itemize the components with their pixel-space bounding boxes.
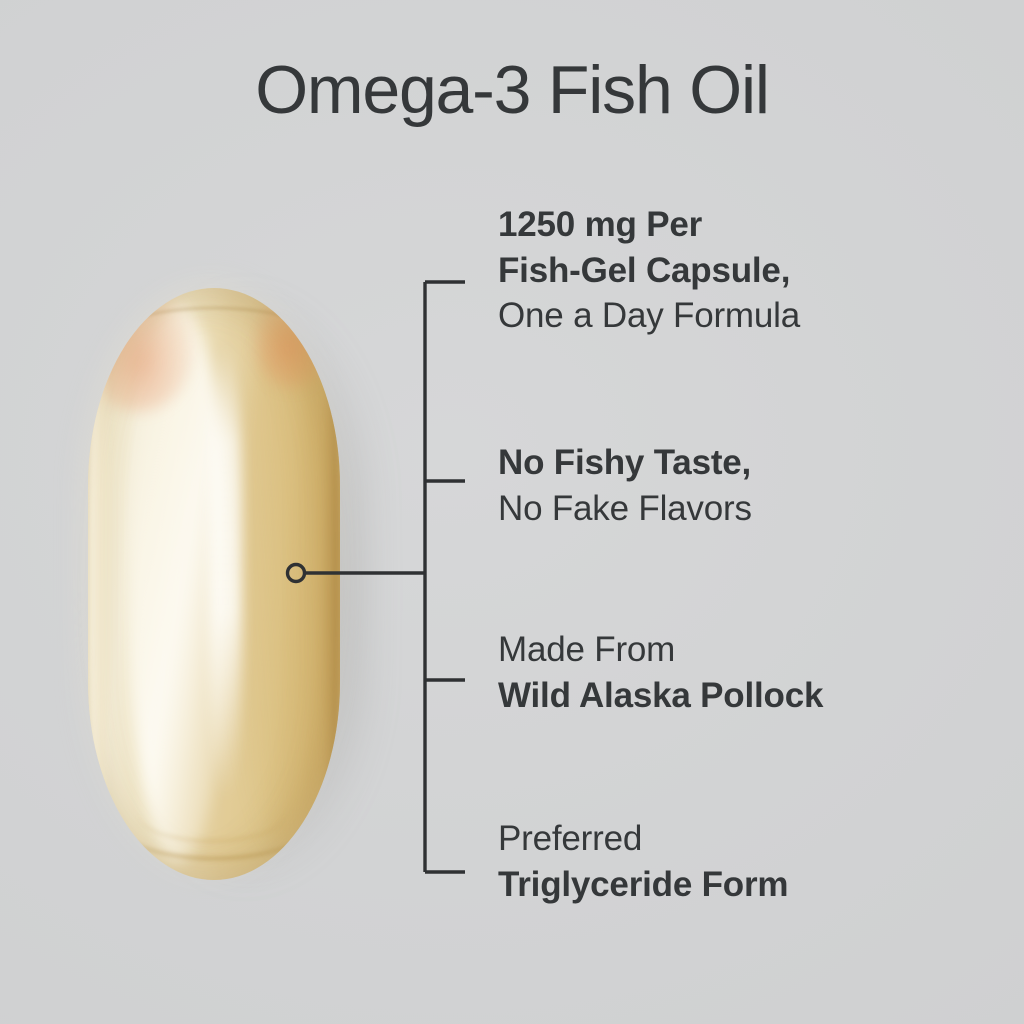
- callout-form: Preferred Triglyceride Form: [498, 816, 788, 907]
- callout-line: Wild Alaska Pollock: [498, 673, 823, 719]
- capsule-top-seam: [108, 307, 320, 374]
- capsule-bottom-meniscus-secondary: [138, 786, 284, 841]
- page-title: Omega-3 Fish Oil: [0, 56, 1024, 124]
- capsule-left-rim-light: [89, 312, 112, 857]
- capsule-specular-streak: [209, 341, 242, 803]
- callout-line: No Fake Flavors: [498, 486, 752, 532]
- callout-dosage: 1250 mg Per Fish-Gel Capsule, One a Day …: [498, 202, 800, 339]
- callout-line: Fish-Gel Capsule,: [498, 248, 800, 294]
- capsule-image: [80, 282, 370, 892]
- callout-line: Made From: [498, 627, 823, 673]
- callout-line: 1250 mg Per: [498, 202, 800, 248]
- callout-source: Made From Wild Alaska Pollock: [498, 627, 823, 718]
- callout-line: Triglyceride Form: [498, 862, 788, 908]
- callout-line: Preferred: [498, 816, 788, 862]
- product-infographic: Omega-3 Fish Oil: [0, 0, 1024, 1024]
- callout-line: One a Day Formula: [498, 293, 800, 339]
- softgel-capsule: [88, 288, 340, 880]
- callout-taste: No Fishy Taste, No Fake Flavors: [498, 440, 752, 531]
- callout-line: No Fishy Taste,: [498, 440, 752, 486]
- capsule-right-rim-shade: [321, 318, 339, 851]
